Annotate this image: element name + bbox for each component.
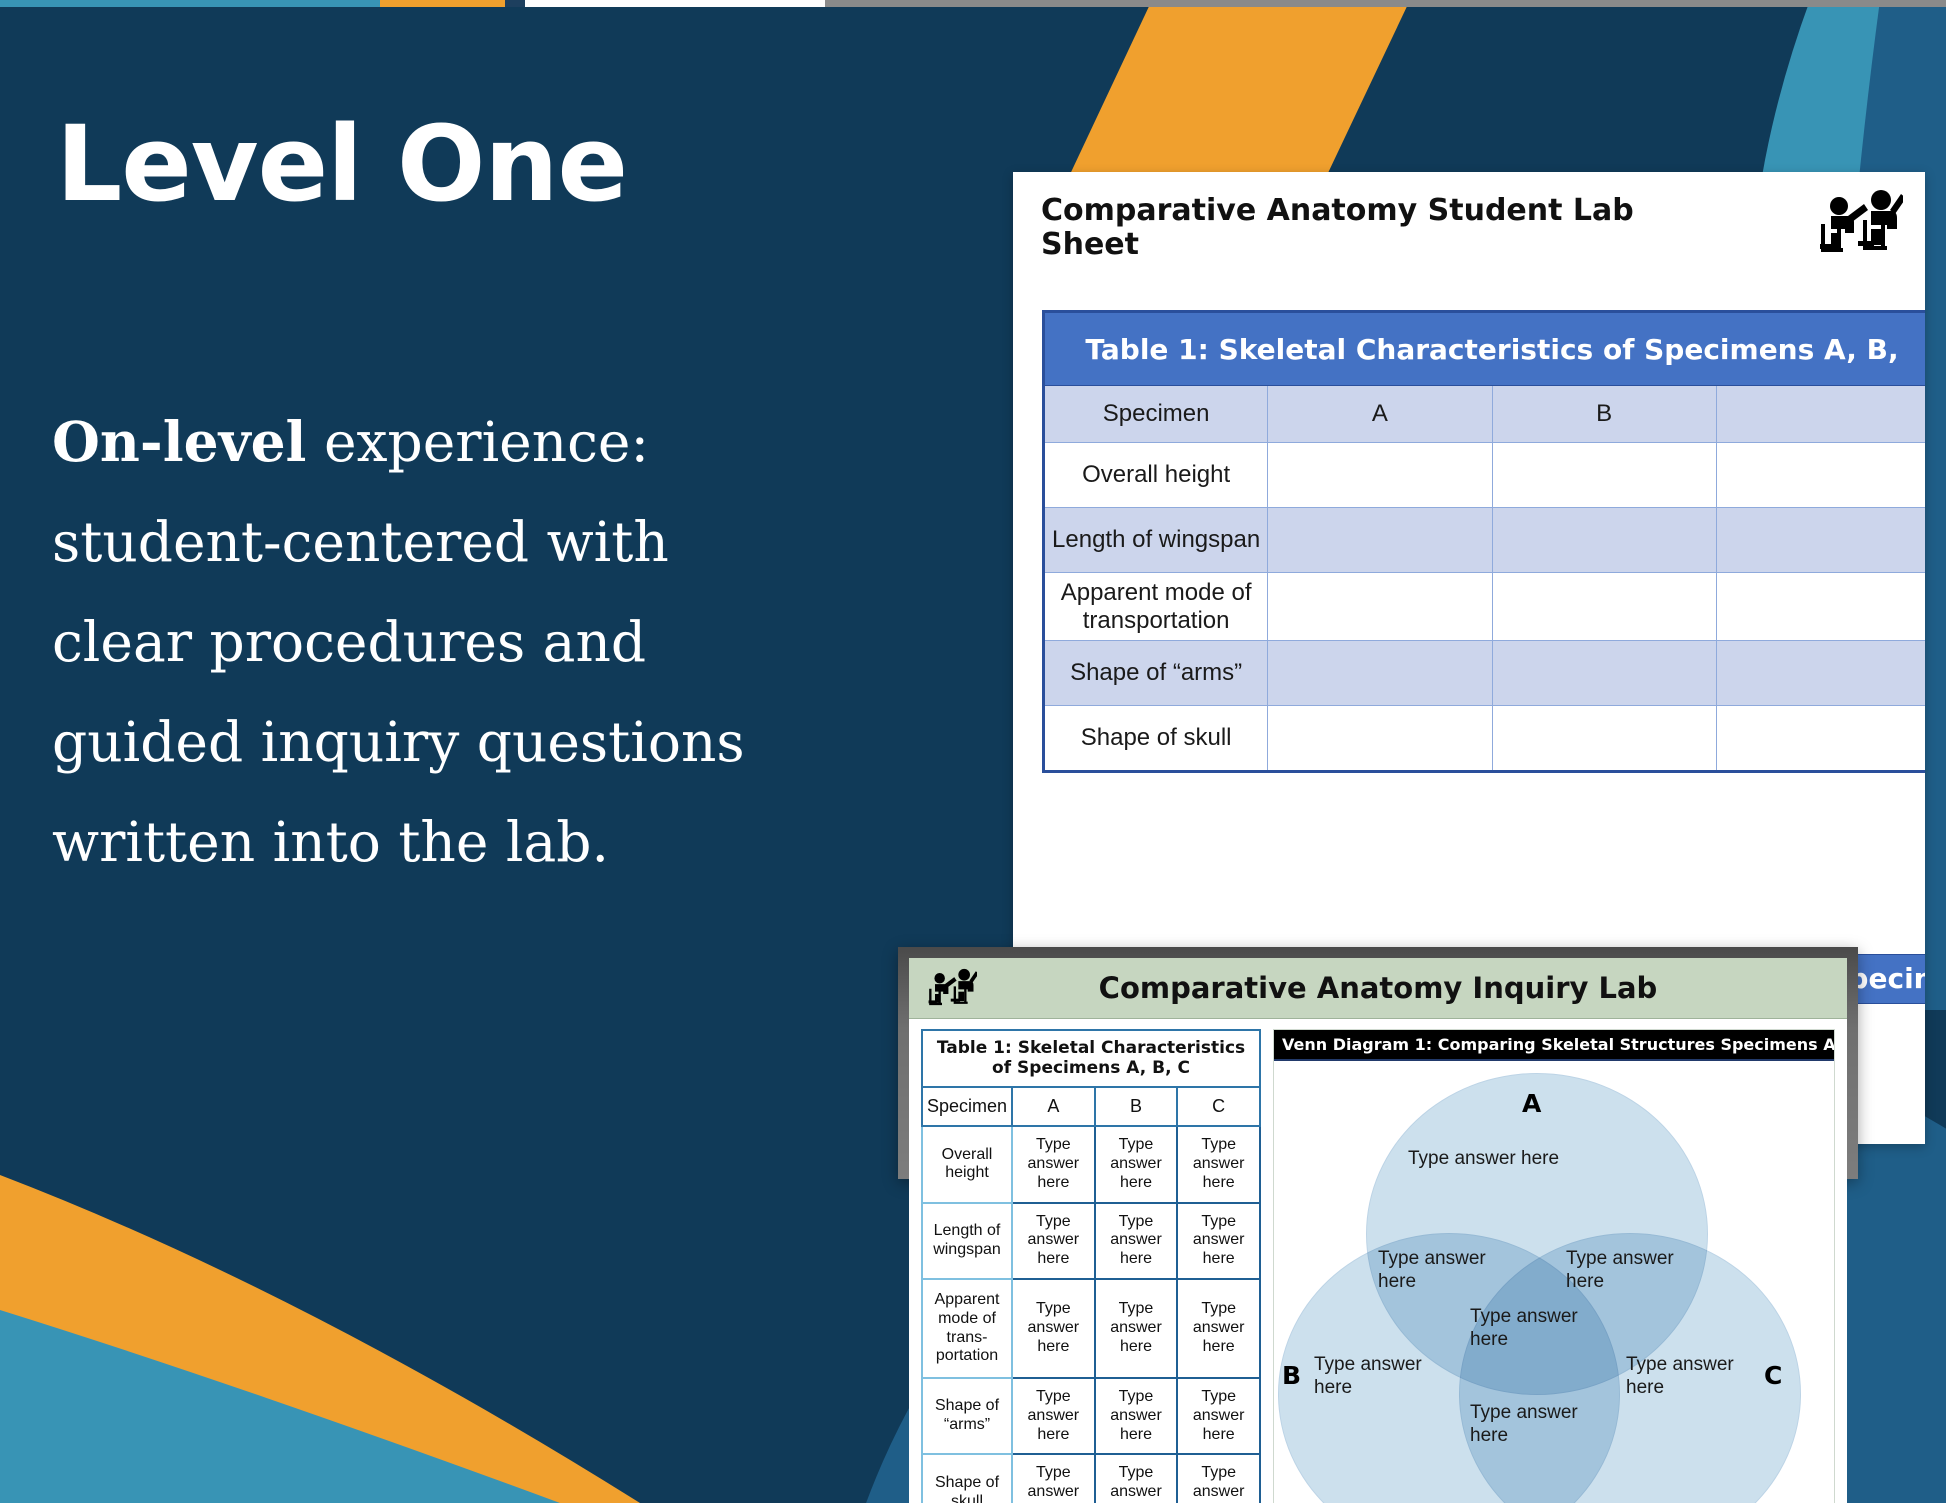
body-lead-bold: On-level	[52, 409, 306, 474]
table-row: Apparent mode of trans-portation Type an…	[922, 1279, 1260, 1378]
row-label: Length of wingspan	[922, 1203, 1012, 1280]
table-1-caption: Table 1: Skeletal Characteristics of Spe…	[1044, 312, 1926, 386]
cell[interactable]	[1716, 706, 1925, 772]
doc-front-frame: Comparative Anatomy Inquiry Lab Table 1:…	[898, 947, 1858, 1179]
cell-c[interactable]: Type answer here	[1177, 1279, 1260, 1378]
cell-a[interactable]: Type answer here	[1012, 1378, 1095, 1455]
col-header-a: A	[1268, 386, 1492, 443]
row-label: Shape of “arms”	[1044, 641, 1268, 706]
venn-region-ac[interactable]: Type answer here	[1566, 1247, 1692, 1293]
students-raising-hands-icon	[1807, 186, 1903, 256]
cell[interactable]	[1492, 508, 1716, 573]
cell[interactable]	[1268, 706, 1492, 772]
table-header-row: Specimen A B C	[922, 1087, 1260, 1126]
table-1-front: Table 1: Skeletal Characteristics of Spe…	[921, 1029, 1261, 1503]
cell[interactable]	[1716, 641, 1925, 706]
cell[interactable]	[1268, 508, 1492, 573]
venn-diagram-1-front-caption: Venn Diagram 1: Comparing Skeletal Struc…	[1274, 1030, 1834, 1061]
venn-label-b: B	[1282, 1361, 1301, 1390]
cell-b[interactable]: Type answer here	[1095, 1203, 1178, 1280]
row-label: Shape of “arms”	[922, 1378, 1012, 1455]
doc-front-title: Comparative Anatomy Inquiry Lab	[1099, 971, 1658, 1005]
cell-a[interactable]: Type answer here	[1012, 1454, 1095, 1503]
cell[interactable]	[1492, 641, 1716, 706]
cell-c[interactable]: Type answer here	[1177, 1454, 1260, 1503]
doc-front-page: Comparative Anatomy Inquiry Lab Table 1:…	[909, 958, 1847, 1503]
col-header-a: A	[1012, 1087, 1095, 1126]
table-row: Overall height	[1044, 443, 1926, 508]
page-title: Level One	[56, 112, 627, 216]
venn-region-bc[interactable]: Type answer here	[1470, 1401, 1596, 1447]
col-header-c: C	[1177, 1087, 1260, 1126]
venn-label-c: C	[1764, 1361, 1782, 1390]
cell-c[interactable]: Type answer here	[1177, 1378, 1260, 1455]
table-row: Length of wingspan	[1044, 508, 1926, 573]
venn-region-ab[interactable]: Type answer here	[1378, 1247, 1504, 1293]
row-label: Length of wingspan	[1044, 508, 1268, 573]
col-header-specimen: Specimen	[922, 1087, 1012, 1126]
cell[interactable]	[1492, 706, 1716, 772]
cell-b[interactable]: Type answer here	[1095, 1454, 1178, 1503]
inquiry-lab-document[interactable]: Comparative Anatomy Inquiry Lab Table 1:…	[898, 947, 1858, 1179]
venn-region-b-only[interactable]: Type answer here	[1314, 1353, 1440, 1399]
cell-b[interactable]: Type answer here	[1095, 1126, 1178, 1203]
cell-a[interactable]: Type answer here	[1012, 1279, 1095, 1378]
venn-canvas: A B C Type answer here Type answer here …	[1274, 1061, 1834, 1503]
cell[interactable]	[1492, 573, 1716, 641]
row-label: Overall height	[1044, 443, 1268, 508]
table-row: Apparent mode of transportation	[1044, 573, 1926, 641]
cell[interactable]	[1268, 641, 1492, 706]
doc-back-title: Comparative Anatomy Student Lab Sheet	[1041, 194, 1701, 261]
slide-canvas: Level One On-level experience: student-c…	[0, 0, 1946, 1503]
table-row: Table 1: Skeletal Characteristics of Spe…	[1044, 312, 1926, 386]
table-row: Shape of “arms”	[1044, 641, 1926, 706]
venn-region-c-only[interactable]: Type answer here	[1626, 1353, 1752, 1399]
students-raising-hands-icon	[921, 962, 977, 1012]
venn-region-a-only[interactable]: Type answer here	[1408, 1147, 1578, 1170]
row-label: Shape of skull	[1044, 706, 1268, 772]
cell-c[interactable]: Type answer here	[1177, 1203, 1260, 1280]
row-label: Apparent mode of trans-portation	[922, 1279, 1012, 1378]
cell-c[interactable]: Type answer here	[1177, 1126, 1260, 1203]
body-paragraph: On-level experience: student-centered wi…	[52, 392, 792, 892]
cell-b[interactable]: Type answer here	[1095, 1378, 1178, 1455]
row-label: Apparent mode of transportation	[1044, 573, 1268, 641]
table-row: Length of wingspan Type answer here Type…	[922, 1203, 1260, 1280]
col-header-c	[1716, 386, 1925, 443]
venn-region-abc[interactable]: Type answer here	[1470, 1305, 1596, 1351]
top-sliver-strip	[0, 0, 1946, 7]
cell[interactable]	[1492, 443, 1716, 508]
venn-label-a: A	[1522, 1089, 1541, 1118]
doc-front-header: Comparative Anatomy Inquiry Lab	[909, 958, 1847, 1019]
table-1-back: Table 1: Skeletal Characteristics of Spe…	[1042, 310, 1925, 773]
col-header-b: B	[1095, 1087, 1178, 1126]
table-row: Overall height Type answer here Type ans…	[922, 1126, 1260, 1203]
cell[interactable]	[1716, 508, 1925, 573]
cell-a[interactable]: Type answer here	[1012, 1203, 1095, 1280]
col-header-b: B	[1492, 386, 1716, 443]
row-label: Overall height	[922, 1126, 1012, 1203]
venn-diagram-1-front: Venn Diagram 1: Comparing Skeletal Struc…	[1273, 1029, 1835, 1503]
table-header-row: Specimen A B	[1044, 386, 1926, 443]
doc-front-columns: Table 1: Skeletal Characteristics of Spe…	[909, 1019, 1847, 1503]
cell[interactable]	[1268, 573, 1492, 641]
row-label: Shape of skull	[922, 1454, 1012, 1503]
body-rest: experience: student-centered with clear …	[52, 410, 745, 874]
table-row: Shape of skull Type answer here Type ans…	[922, 1454, 1260, 1503]
table-1-front-caption: Table 1: Skeletal Characteristics of Spe…	[921, 1029, 1261, 1086]
cell[interactable]	[1716, 573, 1925, 641]
col-header-specimen: Specimen	[1044, 386, 1268, 443]
doc-back-header: Comparative Anatomy Student Lab Sheet	[1013, 172, 1925, 258]
table-row: Shape of “arms” Type answer here Type an…	[922, 1378, 1260, 1455]
table-row: Shape of skull	[1044, 706, 1926, 772]
cell[interactable]	[1716, 443, 1925, 508]
cell[interactable]	[1268, 443, 1492, 508]
cell-a[interactable]: Type answer here	[1012, 1126, 1095, 1203]
cell-b[interactable]: Type answer here	[1095, 1279, 1178, 1378]
